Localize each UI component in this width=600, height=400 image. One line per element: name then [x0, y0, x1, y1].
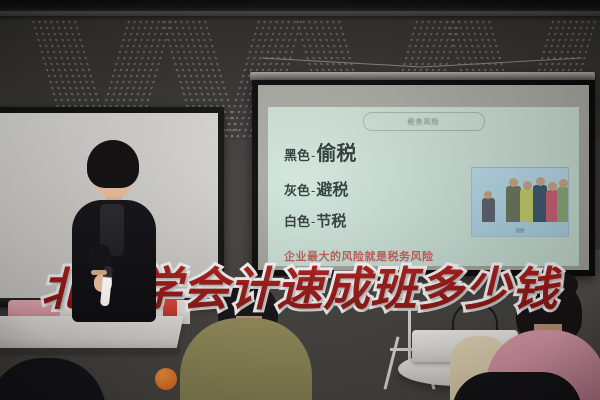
slide-line-dash: - — [311, 215, 315, 229]
slide-content: 税务风险 黑色 - 偷税 灰色 - 避税 白色 - — [268, 107, 579, 266]
slide-bullet-list: 黑色 - 偷税 灰色 - 避税 白色 - 节税 — [284, 137, 356, 241]
presenter-hair — [87, 140, 139, 188]
slide-note: 企业最大的风险就是税务风险 — [284, 248, 434, 264]
slide-line: 黑色 - 偷税 — [284, 137, 356, 166]
slide-line-value: 偷税 — [316, 137, 356, 166]
slide-line-value: 节税 — [316, 210, 346, 231]
slide-illustration: 插图 — [471, 167, 569, 237]
presenter — [60, 140, 166, 320]
slide-header: 税务风险 — [363, 112, 485, 131]
slide-line-dash: - — [311, 149, 315, 163]
projection-screen: 税务风险 黑色 - 偷税 灰色 - 避税 白色 - — [252, 80, 595, 276]
slide-line: 白色 - 节税 — [284, 210, 356, 231]
presenter-bracelet — [91, 270, 107, 275]
slide-line-value: 避税 — [316, 176, 348, 200]
table-long-edge — [0, 348, 181, 355]
slide-header-text: 税务风险 — [408, 117, 440, 127]
slide-line-dash: - — [311, 184, 315, 198]
slide-line-label: 黑色 — [284, 145, 310, 164]
orange-object — [155, 368, 177, 390]
slide-line-label: 灰色 — [284, 180, 310, 199]
ceiling-rail — [0, 16, 600, 20]
illustration-caption: 插图 — [516, 228, 525, 234]
slide-line-label: 白色 — [284, 211, 310, 230]
screen-matte: 税务风险 黑色 - 偷税 灰色 - 避税 白色 - — [258, 85, 589, 270]
screenshot-stage: 税务风险 黑色 - 偷税 灰色 - 避税 白色 - — [0, 0, 600, 400]
slide-line: 灰色 - 避税 — [284, 176, 356, 200]
